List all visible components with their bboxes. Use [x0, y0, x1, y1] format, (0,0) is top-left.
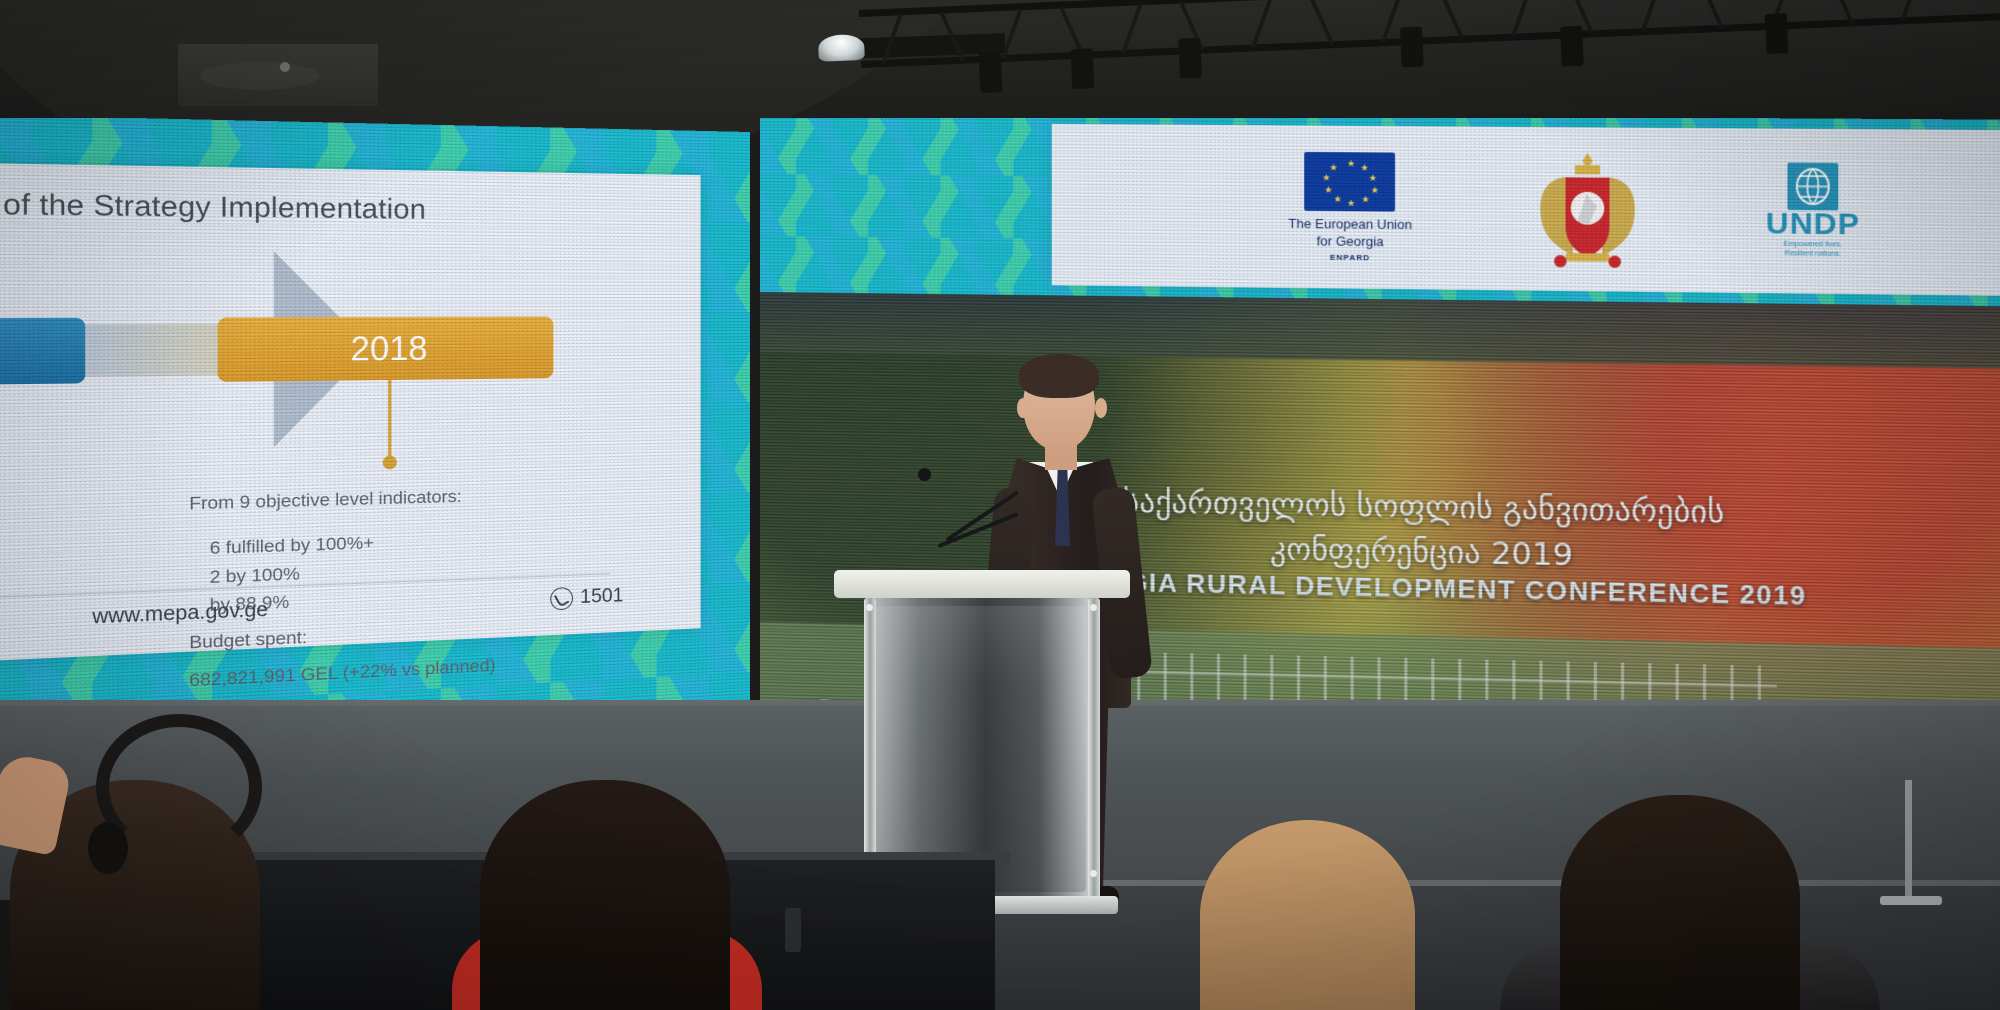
bar-connector — [85, 324, 223, 377]
stage-light-icon — [1560, 26, 1584, 67]
year-badge-2017: 2017 — [0, 318, 85, 388]
stage-light-icon — [1178, 38, 1202, 79]
undp-letters: UNDP — [1766, 212, 1860, 238]
leader-dot-2018 — [383, 455, 397, 469]
year-2018-label: 2018 — [350, 329, 427, 368]
headphone-earcup-icon — [88, 822, 128, 874]
european-union-flag-icon: ★ ★ ★ ★ ★ ★ ★ ★ ★ ★ — [1305, 152, 1396, 212]
enpard-label: ENPARD — [1330, 252, 1370, 262]
stage-light-icon — [1071, 48, 1095, 89]
microphone-stand-base — [1880, 896, 1942, 905]
ceiling-sensor-icon — [280, 62, 290, 72]
slide-title: ults of the Strategy Implementation — [0, 187, 426, 226]
audience-member-red-top — [480, 780, 730, 1010]
stage-light-icon — [1400, 26, 1424, 67]
undp-logo: UNDP Empowered lives. Resilient nations. — [1766, 163, 1860, 260]
audience-member-right — [1560, 795, 1800, 1010]
strategy-results-slide: ults of the Strategy Implementation 2017… — [0, 160, 701, 670]
undp-caption-line2: Resilient nations. — [1784, 250, 1843, 260]
georgia-emblem — [1526, 146, 1649, 272]
microphone-stand — [1905, 780, 1912, 900]
eu-logo: ★ ★ ★ ★ ★ ★ ★ ★ ★ ★ — [1288, 152, 1412, 262]
stage-light-icon — [1765, 13, 1789, 54]
leader-line-2018 — [388, 380, 391, 458]
conference-photo: ults of the Strategy Implementation 2017… — [0, 0, 2000, 1010]
eu-caption-line2: for Georgia — [1288, 233, 1412, 251]
footer-hotline: 1501 — [550, 585, 623, 610]
year-badge-2018: 2018 — [218, 317, 554, 382]
logo-bar: ★ ★ ★ ★ ★ ★ ★ ★ ★ ★ — [1052, 124, 2000, 297]
left-screen-panel: ults of the Strategy Implementation 2017… — [0, 118, 750, 758]
ceiling-vent — [200, 62, 320, 90]
hotline-number: 1501 — [580, 585, 623, 609]
stage-light-icon — [818, 34, 865, 62]
eu-caption-line1: The European Union — [1288, 216, 1412, 234]
microphone-capsule-icon — [918, 468, 931, 481]
audience-member-center — [1200, 820, 1415, 1010]
stage-light-icon — [979, 52, 1003, 93]
undp-globe-icon — [1787, 163, 1838, 211]
georgia-coat-of-arms-icon — [1526, 146, 1649, 272]
undp-caption-line1: Empowered lives. — [1784, 241, 1843, 251]
phone-icon — [550, 587, 573, 611]
